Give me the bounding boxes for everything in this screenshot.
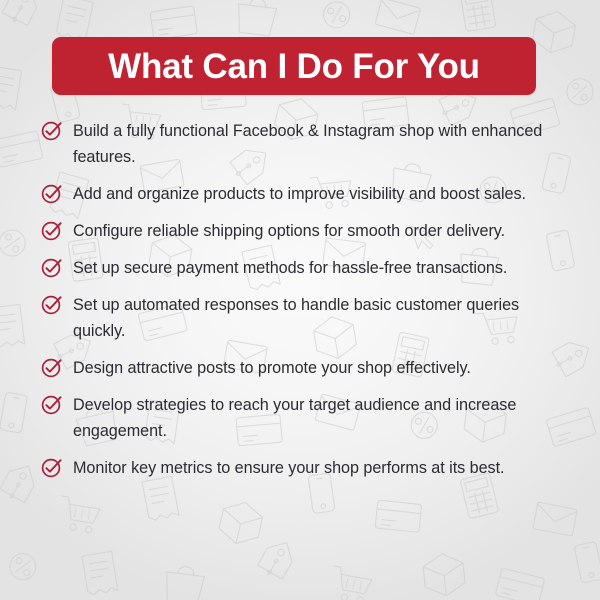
list-item: Develop strategies to reach your target … bbox=[40, 392, 560, 444]
title-banner: What Can I Do For You bbox=[52, 37, 536, 95]
list-item-text: Design attractive posts to promote your … bbox=[73, 355, 471, 381]
list-item: Set up secure payment methods for hassle… bbox=[40, 255, 560, 281]
list-item-text: Set up automated responses to handle bas… bbox=[73, 292, 543, 344]
check-circle-icon bbox=[40, 218, 64, 242]
list-item-text: Set up secure payment methods for hassle… bbox=[73, 255, 507, 281]
promo-graphic: What Can I Do For You Build a fully func… bbox=[0, 0, 600, 600]
check-circle-icon bbox=[40, 392, 64, 416]
page-title: What Can I Do For You bbox=[108, 49, 480, 84]
list-item: Set up automated responses to handle bas… bbox=[40, 292, 560, 344]
services-checklist: Build a fully functional Facebook & Inst… bbox=[40, 118, 560, 492]
list-item-text: Build a fully functional Facebook & Inst… bbox=[73, 118, 543, 170]
list-item-text: Configure reliable shipping options for … bbox=[73, 218, 505, 244]
list-item: Monitor key metrics to ensure your shop … bbox=[40, 455, 560, 481]
list-item-text: Develop strategies to reach your target … bbox=[73, 392, 543, 444]
check-circle-icon bbox=[40, 355, 64, 379]
check-circle-icon bbox=[40, 455, 64, 479]
check-circle-icon bbox=[40, 181, 64, 205]
check-circle-icon bbox=[40, 292, 64, 316]
check-circle-icon bbox=[40, 255, 64, 279]
list-item: Add and organize products to improve vis… bbox=[40, 181, 560, 207]
list-item: Configure reliable shipping options for … bbox=[40, 218, 560, 244]
list-item-text: Monitor key metrics to ensure your shop … bbox=[73, 455, 504, 481]
check-circle-icon bbox=[40, 118, 64, 142]
list-item-text: Add and organize products to improve vis… bbox=[73, 181, 526, 207]
list-item: Build a fully functional Facebook & Inst… bbox=[40, 118, 560, 170]
list-item: Design attractive posts to promote your … bbox=[40, 355, 560, 381]
